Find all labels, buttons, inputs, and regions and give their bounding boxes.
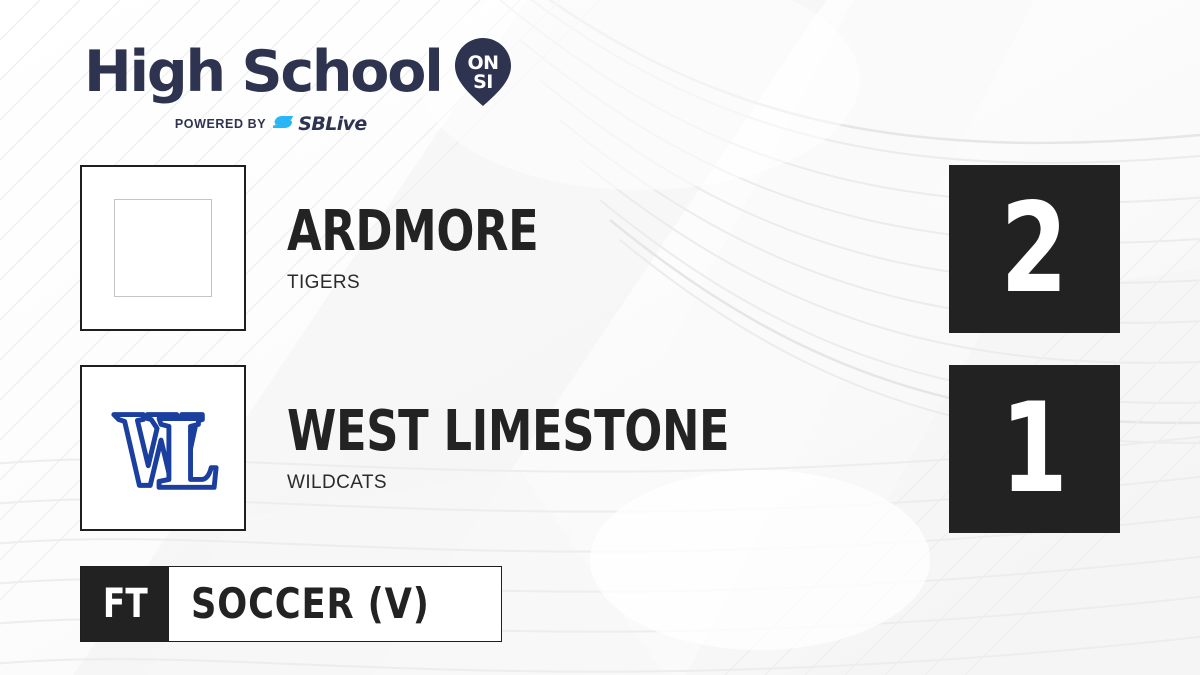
team-score: 1: [1001, 387, 1068, 511]
powered-by-row: POWERED BY SBLive: [84, 113, 514, 135]
sblive-s-icon: [273, 115, 295, 134]
team-name: ARDMORE: [287, 202, 538, 262]
game-status-bar: FT SOCCER (V): [80, 566, 502, 642]
team-score: 2: [1001, 187, 1068, 311]
team-text-block: ARDMORE TIGERS: [287, 165, 601, 331]
sblive-logo: SBLive: [273, 113, 366, 135]
status-sport-badge: SOCCER (V): [169, 567, 501, 641]
team-score-box: 2: [949, 165, 1120, 333]
pin-text-si: SI: [473, 71, 493, 93]
sblive-wordmark: SBLive: [298, 113, 366, 135]
team-logo-tile: [80, 165, 246, 331]
brand-logo-row: High School ON SI: [84, 36, 514, 108]
scoreboard-graphic: High School ON SI POWERED BY SBLive: [0, 0, 1200, 675]
placeholder-logo-icon: [114, 199, 212, 297]
status-sport-label: SOCCER (V): [191, 582, 430, 626]
team-name: WEST LIMESTONE: [287, 402, 729, 462]
team-text-block: WEST LIMESTONE WILDCATS: [287, 365, 840, 531]
status-period-badge: FT: [81, 567, 169, 641]
status-period-label: FT: [103, 584, 148, 624]
team-score-box: 1: [949, 365, 1120, 533]
team-mascot: WILDCATS: [287, 471, 840, 495]
team-logo-tile: [80, 365, 246, 531]
brand-header: High School ON SI POWERED BY SBLive: [84, 36, 514, 135]
powered-by-label: POWERED BY: [175, 117, 266, 131]
wl-monogram-logo-icon: [104, 389, 222, 507]
team-row: WEST LIMESTONE WILDCATS 1: [0, 365, 1200, 535]
on-si-pin-icon: ON SI: [452, 36, 514, 108]
team-row: ARDMORE TIGERS 2: [0, 165, 1200, 335]
team-mascot: TIGERS: [287, 271, 601, 295]
brand-wordmark: High School: [84, 43, 442, 101]
